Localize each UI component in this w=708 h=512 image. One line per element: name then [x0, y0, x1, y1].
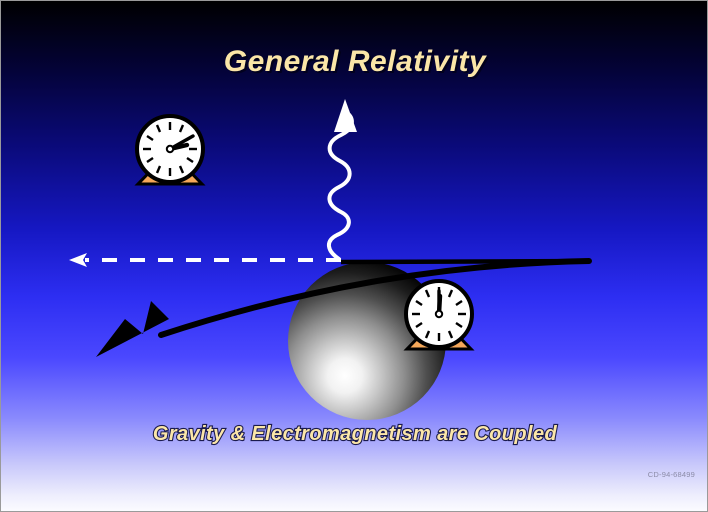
- near-clock-hub: [436, 311, 442, 317]
- near-clock: [406, 281, 472, 349]
- em-wave-squiggle: [329, 111, 352, 259]
- deflected-ray-arrowhead: [96, 301, 169, 357]
- distant-clock-hub: [167, 146, 173, 152]
- page-title: General Relativity: [1, 45, 708, 79]
- dashed-ray-arrowhead: [69, 253, 87, 267]
- credit-label: CD-94-68499: [648, 470, 695, 479]
- slide-canvas: General Relativity Gravity & Electromagn…: [0, 0, 708, 512]
- em-wave-arrowhead: [334, 99, 357, 132]
- caption-text: Gravity & Electromagnetism are Coupled: [1, 423, 708, 446]
- distant-clock: [137, 116, 203, 184]
